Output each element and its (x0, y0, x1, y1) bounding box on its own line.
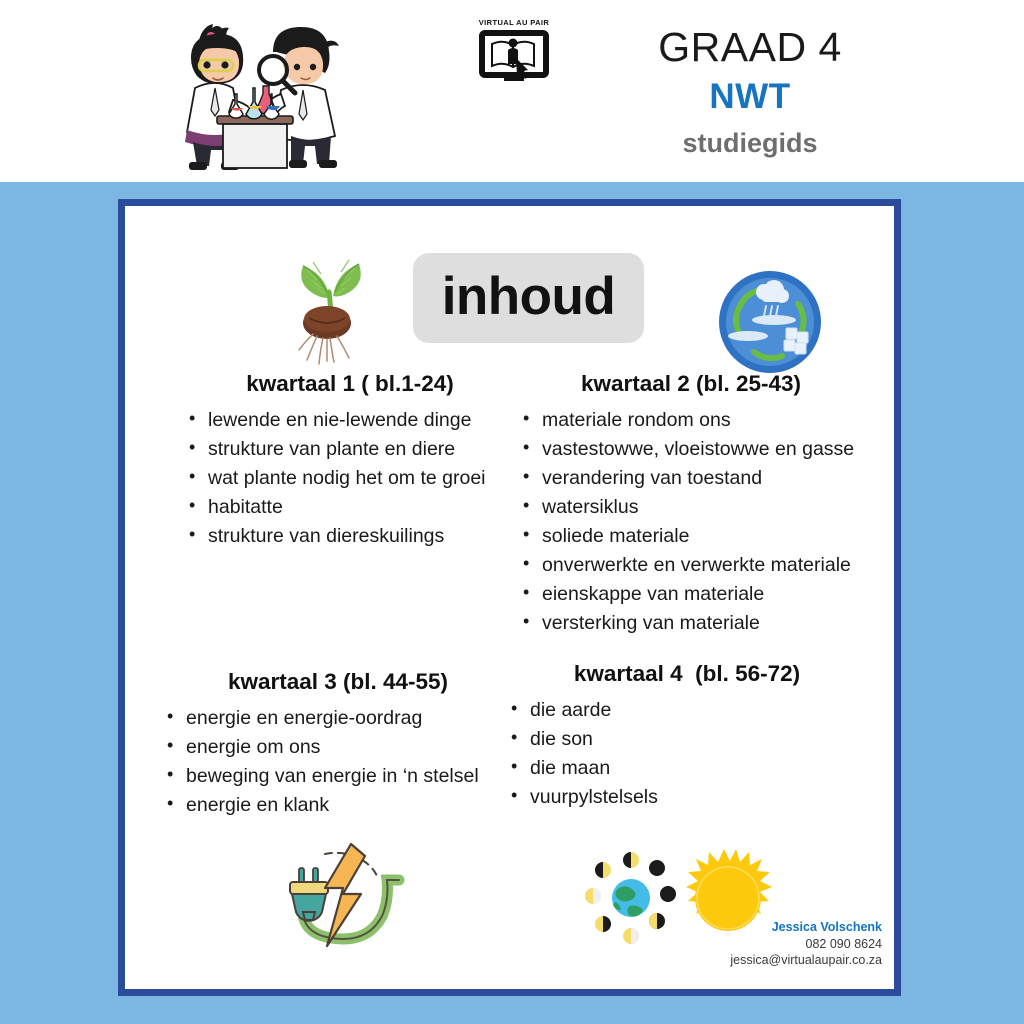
contact-email[interactable]: jessica@virtualaupair.co.za (730, 952, 882, 969)
quarter-title: kwartaal 4 (bl. 56-72) (517, 662, 857, 687)
quarter-title: kwartaal 2 (bl. 25-43) (521, 372, 861, 397)
list-item: strukture van diereskuilings (187, 522, 515, 551)
list-item: beweging van energie in ‘n stelsel (165, 762, 503, 791)
list-item: energie en energie-oordrag (165, 704, 503, 733)
list-item: watersiklus (521, 493, 861, 522)
quarter-2-section: kwartaal 2 (bl. 25-43) materiale rondom … (521, 372, 861, 638)
list-item: onverwerkte en verwerkte materiale (521, 551, 861, 580)
doc-type-title: studiegids (600, 127, 900, 159)
logo-wordmark: VIRTUAL AU PAIR (468, 18, 560, 27)
quarter-1-section: kwartaal 1 ( bl.1-24) lewende en nie-lew… (185, 372, 515, 551)
monitor-logo-icon (468, 18, 560, 90)
list-item: die aarde (509, 696, 857, 725)
inhoud-label: inhoud (442, 270, 616, 327)
quarter-3-topic-list: energie en energie-oordrag energie om on… (165, 704, 503, 820)
inhoud-badge: inhoud (413, 253, 644, 343)
quarter-2-topic-list: materiale rondom ons vastestowwe, vloeis… (521, 406, 861, 638)
list-item: strukture van plante en diere (187, 435, 515, 464)
list-item: energie om ons (165, 733, 503, 762)
header-band: VIRTUAL AU PAIR GRAAD 4 NWT studiegids (0, 0, 1024, 182)
list-item: eienskappe van materiale (521, 580, 861, 609)
list-item: vuurpylstelsels (509, 783, 857, 812)
list-item: verandering van toestand (521, 464, 861, 493)
inhoud-header-row: inhoud (125, 224, 894, 369)
two-scientists-illustration (155, 12, 355, 172)
list-item: soliede materiale (521, 522, 861, 551)
seedling-icon (283, 244, 381, 366)
header-titles: GRAAD 4 NWT studiegids (600, 26, 900, 159)
water-cycle-icon (718, 270, 822, 374)
content-frame: inhoud (118, 199, 901, 996)
grade-title: GRAAD 4 (600, 26, 900, 69)
list-item: die son (509, 725, 857, 754)
list-item: versterking van materiale (521, 609, 861, 638)
list-item: die maan (509, 754, 857, 783)
quarter-1-topic-list: lewende en nie-lewende dinge strukture v… (187, 406, 515, 551)
list-item: energie en klank (165, 791, 503, 820)
list-item: materiale rondom ons (521, 406, 861, 435)
contact-phone: 082 090 8624 (730, 936, 882, 953)
quarter-title: kwartaal 1 ( bl.1-24) (185, 372, 515, 397)
list-item: wat plante nodig het om te groei (187, 464, 515, 493)
quarter-title: kwartaal 3 (bl. 44-55) (173, 670, 503, 695)
study-guide-poster: VIRTUAL AU PAIR GRAAD 4 NWT studiegids (0, 0, 1024, 1024)
subject-title: NWT (600, 75, 900, 119)
quarter-4-topic-list: die aarde die son die maan vuurpylstelse… (509, 696, 857, 812)
list-item: lewende en nie-lewende dinge (187, 406, 515, 435)
list-item: habitatte (187, 493, 515, 522)
list-item: vastestowwe, vloeistowwe en gasse (521, 435, 861, 464)
quarter-3-section: kwartaal 3 (bl. 44-55) energie en energi… (173, 670, 503, 820)
quarter-4-section: kwartaal 4 (bl. 56-72) die aarde die son… (517, 662, 857, 812)
energy-plug-icon (273, 840, 407, 950)
contact-block: Jessica Volschenk 082 090 8624 jessica@v… (730, 919, 882, 969)
contact-name: Jessica Volschenk (730, 919, 882, 936)
